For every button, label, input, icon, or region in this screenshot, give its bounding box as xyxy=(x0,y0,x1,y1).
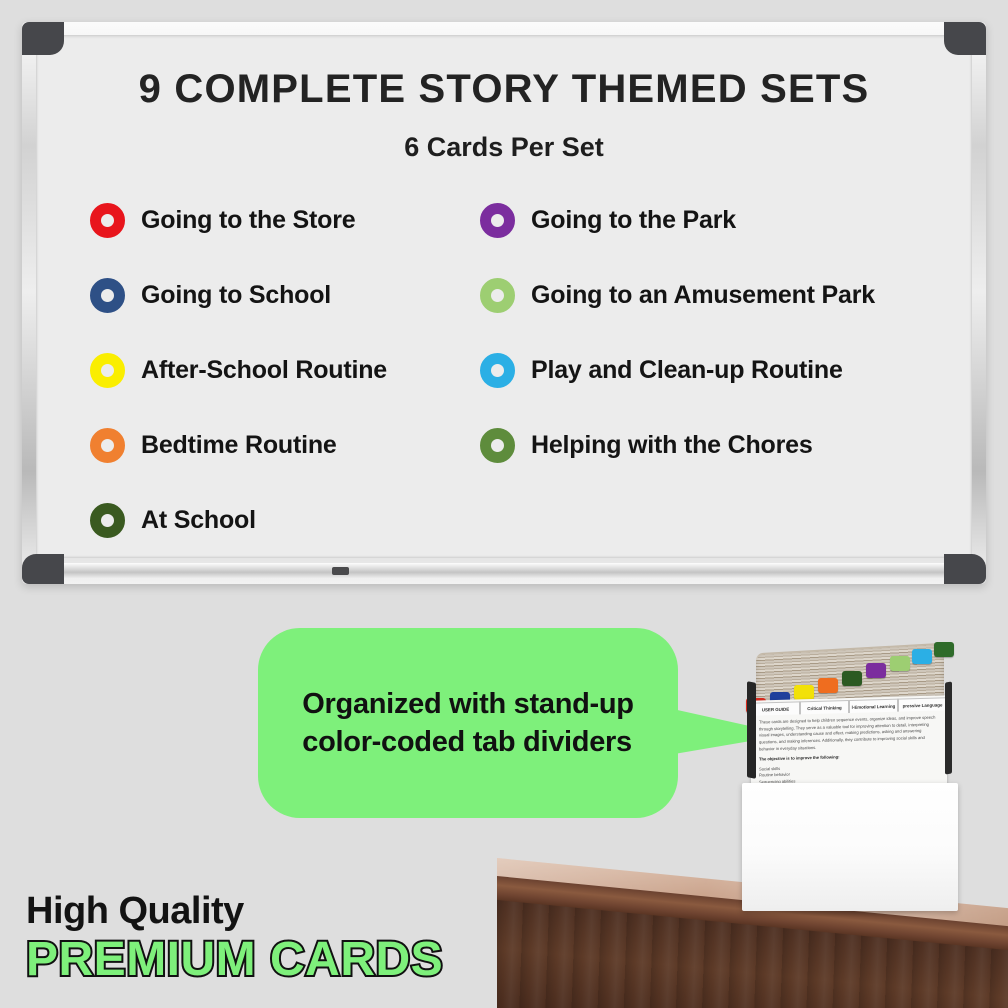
whiteboard-content: 9 COMPLETE STORY THEMED SETS 6 Cards Per… xyxy=(36,35,972,558)
user-guide-paragraph: These cards are designed to help childre… xyxy=(759,715,935,751)
themed-set-label: Going to School xyxy=(141,281,331,310)
color-divider-tab xyxy=(934,642,954,657)
guide-index-tab: pressive Language xyxy=(898,697,947,711)
card-storage-box: USER GUIDECritical Thinkingl-Emotional L… xyxy=(742,636,958,911)
set-color-ring-icon xyxy=(90,203,125,238)
themed-set-label: Helping with the Chores xyxy=(531,431,813,460)
set-color-ring-icon xyxy=(480,203,515,238)
themed-set-label: Bedtime Routine xyxy=(141,431,337,460)
set-color-ring-icon xyxy=(90,428,125,463)
themed-set-item: At School xyxy=(90,483,510,558)
card-box-body xyxy=(742,783,958,911)
guide-index-tab: l-Emotional Learning xyxy=(849,699,898,713)
themed-set-item: Play and Clean-up Routine xyxy=(480,333,990,408)
color-divider-tab xyxy=(818,678,838,693)
whiteboard: 9 COMPLETE STORY THEMED SETS 6 Cards Per… xyxy=(22,22,986,584)
themed-set-item: After-School Routine xyxy=(90,333,510,408)
user-guide-tab-row: USER GUIDECritical Thinkingl-Emotional L… xyxy=(751,697,947,715)
set-color-ring-icon xyxy=(90,278,125,313)
footer-line-1: High Quality xyxy=(26,892,443,932)
user-guide-body: These cards are designed to help childre… xyxy=(759,714,939,792)
themed-set-item: Going to the Park xyxy=(480,183,990,258)
guide-index-tab: Critical Thinking xyxy=(800,700,849,714)
themed-set-label: Going to the Park xyxy=(531,206,736,235)
themed-set-item: Going to the Store xyxy=(90,183,510,258)
set-color-ring-icon xyxy=(480,353,515,388)
set-color-ring-icon xyxy=(90,353,125,388)
card-box-inner-right-shadow xyxy=(945,681,952,774)
frame-corner-bottom-right xyxy=(944,554,986,584)
color-divider-tab xyxy=(890,656,910,671)
themed-set-item: Going to an Amusement Park xyxy=(480,258,990,333)
callout-bubble: Organized with stand-up color-coded tab … xyxy=(258,628,678,818)
frame-corner-bottom-left xyxy=(22,554,64,584)
themed-set-label: Going to the Store xyxy=(141,206,355,235)
set-color-ring-icon xyxy=(480,278,515,313)
themed-sets-lists: Going to the StoreGoing to SchoolAfter-S… xyxy=(62,183,946,513)
themed-sets-right-column: Going to the ParkGoing to an Amusement P… xyxy=(480,183,990,483)
callout-line-1: Organized with stand-up xyxy=(302,685,633,723)
callout-bubble-body: Organized with stand-up color-coded tab … xyxy=(258,628,678,818)
board-subtitle: 6 Cards Per Set xyxy=(62,132,946,163)
set-color-ring-icon xyxy=(90,503,125,538)
guide-index-tab: USER GUIDE xyxy=(751,701,800,715)
themed-set-label: Play and Clean-up Routine xyxy=(531,356,843,385)
callout-text: Organized with stand-up color-coded tab … xyxy=(280,685,655,762)
themed-set-item: Going to School xyxy=(90,258,510,333)
color-divider-tab xyxy=(912,649,932,664)
themed-set-label: After-School Routine xyxy=(141,356,387,385)
color-divider-tab xyxy=(866,663,886,678)
themed-set-label: Going to an Amusement Park xyxy=(531,281,875,310)
board-title: 9 COMPLETE STORY THEMED SETS xyxy=(62,69,946,109)
themed-set-item: Helping with the Chores xyxy=(480,408,990,483)
color-divider-tab xyxy=(794,685,814,700)
color-divider-tab xyxy=(842,671,862,686)
set-color-ring-icon xyxy=(480,428,515,463)
themed-set-label: At School xyxy=(141,506,256,535)
whiteboard-marker-tray xyxy=(38,563,970,578)
tray-clip-icon xyxy=(332,567,349,575)
callout-line-2: color-coded tab dividers xyxy=(302,723,633,761)
footer-text: High Quality PREMIUM CARDS xyxy=(26,892,443,986)
footer-line-2: PREMIUM CARDS xyxy=(26,934,443,986)
themed-set-item: Bedtime Routine xyxy=(90,408,510,483)
card-box-inner-left-shadow xyxy=(747,681,756,779)
themed-sets-left-column: Going to the StoreGoing to SchoolAfter-S… xyxy=(90,183,510,558)
